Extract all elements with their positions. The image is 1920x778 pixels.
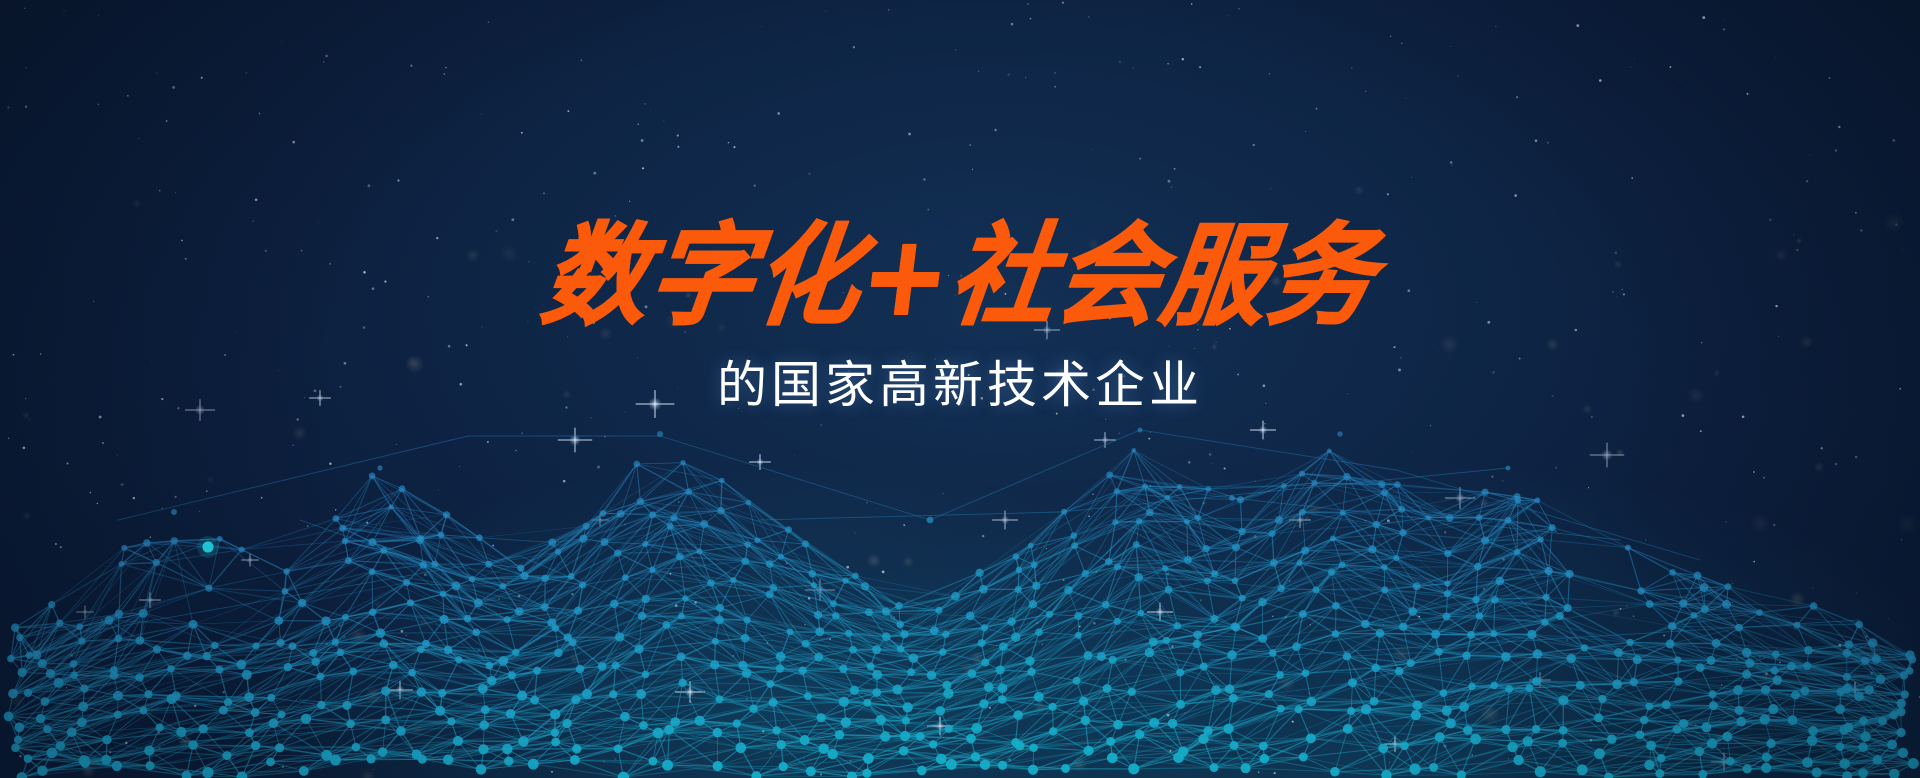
- vignette-overlay: [0, 0, 1920, 778]
- hero-banner: 数字化+社会服务 的国家高新技术企业: [0, 0, 1920, 778]
